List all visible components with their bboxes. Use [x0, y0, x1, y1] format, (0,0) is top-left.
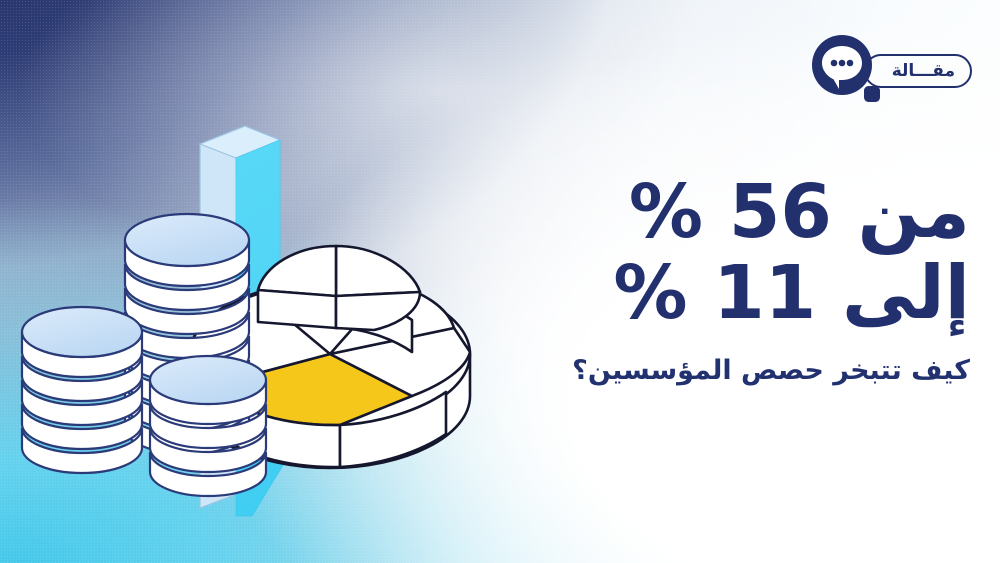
- headline-line-2: إلى 11 %: [440, 257, 970, 330]
- subtitle: كيف تتبخر حصص المؤسسين؟: [440, 355, 970, 387]
- coin-stacks: [22, 214, 266, 496]
- headline-line-1: من 56 %: [440, 176, 970, 249]
- hero-illustration: [40, 96, 490, 496]
- article-badge[interactable]: مقـــالة: [806, 32, 972, 110]
- speech-bubble-dots-logo-icon: [806, 32, 884, 110]
- poster-canvas: مقـــالة من 56 % إلى 11 % كيف تتبخر حصص …: [0, 0, 1000, 563]
- rounded-square-dot-icon: [864, 86, 880, 102]
- coin-stack-left: [22, 307, 142, 473]
- headline-block: من 56 % إلى 11 % كيف تتبخر حصص المؤسسين؟: [440, 176, 970, 387]
